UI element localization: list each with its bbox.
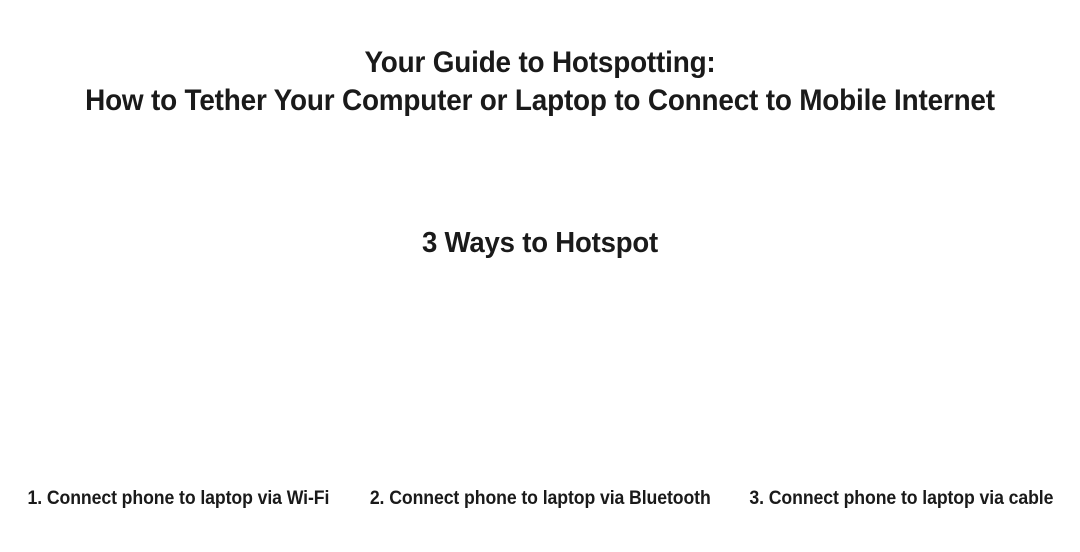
step-caption-row: 1. Connect phone to laptop via Wi-Fi 2. … (0, 488, 1080, 514)
title-line-2: How to Tether Your Computer or Laptop to… (38, 82, 1042, 120)
step-caption-bluetooth: 2. Connect phone to laptop via Bluetooth (370, 488, 711, 510)
title-line-1: Your Guide to Hotspotting: (38, 44, 1042, 82)
illustration-slot-bluetooth (360, 282, 720, 480)
illustration-band (0, 282, 1080, 480)
step-caption-cable: 3. Connect phone to laptop via cable (736, 488, 1068, 510)
section-heading: 3 Ways to Hotspot (27, 224, 1053, 262)
page-title: Your Guide to Hotspotting: How to Tether… (0, 44, 1080, 120)
illustration-slot-wifi (0, 282, 360, 480)
step-caption-wifi: 1. Connect phone to laptop via Wi-Fi (12, 488, 344, 510)
infographic-page: Your Guide to Hotspotting: How to Tether… (0, 0, 1080, 552)
illustration-slot-cable (720, 282, 1080, 480)
